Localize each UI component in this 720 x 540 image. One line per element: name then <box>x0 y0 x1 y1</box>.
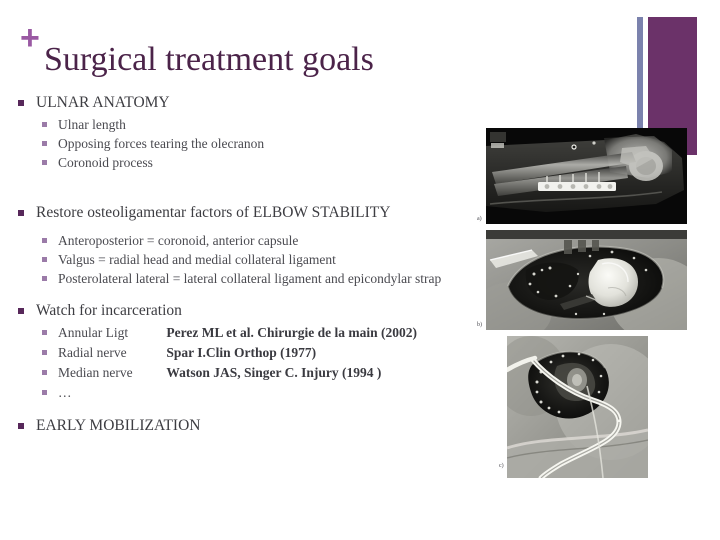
list-item-label: Coronoid process <box>58 155 153 170</box>
figure-elbow-xray-with-plate <box>486 128 687 224</box>
section-heading: Watch for incarceration <box>0 300 480 321</box>
square-bullet-icon <box>42 160 47 165</box>
list-item-label: Anteroposterior = coronoid, anterior cap… <box>58 233 298 248</box>
section-elbow-stability: Restore osteoligamentar factors of ELBOW… <box>0 202 480 288</box>
reference-term: Annular Ligt <box>58 323 163 343</box>
reference-term: Radial nerve <box>58 343 163 363</box>
square-bullet-icon <box>42 330 47 335</box>
square-bullet-icon <box>18 100 24 106</box>
list-item-label: Ulnar length <box>58 117 126 132</box>
figure-label-b: b) <box>477 322 482 329</box>
section-spacer <box>0 403 480 415</box>
section-heading-label: Watch for incarceration <box>36 302 182 319</box>
section-watch-for-incarceration: Watch for incarceration Annular Ligt Per… <box>0 300 480 403</box>
section-heading: ULNAR ANATOMY <box>0 92 480 113</box>
section-heading: Restore osteoligamentar factors of ELBOW… <box>0 202 480 223</box>
section-spacer <box>0 172 480 202</box>
square-bullet-icon <box>42 257 47 262</box>
square-bullet-icon <box>18 308 24 314</box>
intraoperative-photo-illustration <box>486 230 687 330</box>
page-title: Surgical treatment goals <box>44 40 644 80</box>
square-bullet-icon <box>42 390 47 395</box>
square-bullet-icon <box>42 350 47 355</box>
section-heading-label: EARLY MOBILIZATION <box>36 417 200 434</box>
list-item-label: Opposing forces tearing the olecranon <box>58 136 264 151</box>
figure-intraoperative-elbow-drain <box>507 336 648 478</box>
reference-row: Median nerve Watson JAS, Singer C. Injur… <box>0 363 480 383</box>
content-body: ULNAR ANATOMY Ulnar length Opposing forc… <box>0 92 480 438</box>
square-bullet-icon <box>18 423 24 429</box>
figure-intraoperative-elbow-exposure <box>486 230 687 330</box>
reference-row: Radial nerve Spar I.Clin Orthop (1977) <box>0 343 480 363</box>
section-heading: EARLY MOBILIZATION <box>0 415 480 436</box>
xray-illustration <box>486 128 687 224</box>
figure-label-c: c) <box>499 463 504 470</box>
square-bullet-icon <box>42 141 47 146</box>
list-item: Opposing forces tearing the olecranon <box>0 134 480 153</box>
square-bullet-icon <box>42 122 47 127</box>
reference-term: Median nerve <box>58 363 163 383</box>
reference-row: Annular Ligt Perez ML et al. Chirurgie d… <box>0 323 480 343</box>
reference-citation: Perez ML et al. Chirurgie de la main (20… <box>166 323 417 343</box>
list-item: Anteroposterior = coronoid, anterior cap… <box>0 231 480 250</box>
list-item: Valgus = radial head and medial collater… <box>0 250 480 269</box>
section-early-mobilization: EARLY MOBILIZATION <box>0 415 480 436</box>
square-bullet-icon <box>18 210 24 216</box>
section-heading-label: ULNAR ANATOMY <box>36 94 170 111</box>
reference-term: … <box>58 383 163 403</box>
reference-row: … <box>0 383 480 403</box>
square-bullet-icon <box>42 370 47 375</box>
intraoperative-drain-illustration <box>507 336 648 478</box>
square-bullet-icon <box>42 238 47 243</box>
list-item: Posterolateral lateral = lateral collate… <box>0 269 480 288</box>
list-item-label: Valgus = radial head and medial collater… <box>58 252 336 267</box>
list-item: Ulnar length <box>0 115 480 134</box>
square-bullet-icon <box>42 276 47 281</box>
list-item-label: Posterolateral lateral = lateral collate… <box>58 269 480 288</box>
section-ulnar-anatomy: ULNAR ANATOMY Ulnar length Opposing forc… <box>0 92 480 172</box>
section-spacer <box>0 288 480 300</box>
section-heading-label: Restore osteoligamentar factors of ELBOW… <box>36 204 390 221</box>
reference-citation: Spar I.Clin Orthop (1977) <box>166 343 316 363</box>
reference-citation: Watson JAS, Singer C. Injury (1994 ) <box>166 363 381 383</box>
slide-canvas: + Surgical treatment goals ULNAR ANATOMY… <box>0 0 720 540</box>
figure-label-a: a) <box>477 216 482 223</box>
list-item: Coronoid process <box>0 153 480 172</box>
